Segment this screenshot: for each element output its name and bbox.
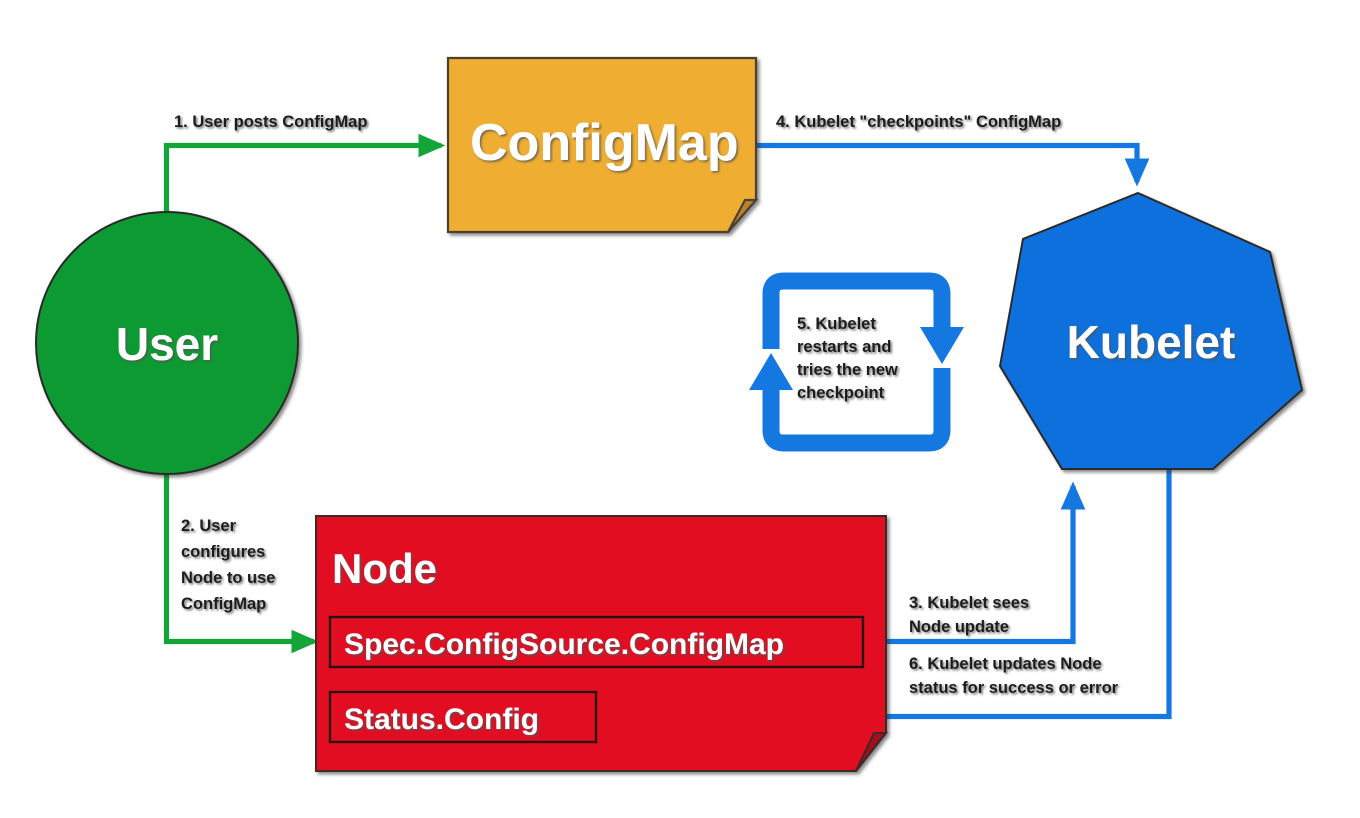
step-label-4-line-0: 4. Kubelet "checkpoints" ConfigMap — [776, 113, 1061, 131]
node-field-label-spec-config-source: Spec.ConfigSource.ConfigMap — [344, 628, 784, 661]
step-label-6-line-1: status for success or error — [909, 679, 1119, 697]
step-label-2-line-3: ConfigMap — [181, 595, 266, 613]
diagram-canvas: Node Spec.ConfigSource.ConfigMap Status.… — [0, 0, 1360, 818]
step-label-5-line-2: tries the new — [797, 361, 898, 379]
node-label-user: User — [116, 318, 218, 370]
step-label-2: 2. User configures Node to use ConfigMap — [181, 517, 275, 613]
step-label-1: 1. User posts ConfigMap — [174, 113, 367, 131]
step-label-2-line-1: configures — [181, 543, 265, 561]
step-label-6-line-0: 6. Kubelet updates Node — [909, 655, 1102, 673]
node-label-configmap: ConfigMap — [470, 114, 739, 172]
step-label-5: 5. Kubelet restarts and tries the new ch… — [797, 315, 898, 402]
arrow-step-4 — [757, 146, 1137, 183]
node-label-kubelet: Kubelet — [1067, 316, 1236, 368]
step-label-1-line-0: 1. User posts ConfigMap — [174, 113, 367, 131]
kubelet-config-flow-diagram: Node Spec.ConfigSource.ConfigMap Status.… — [0, 0, 1360, 818]
step-label-6: 6. Kubelet updates Node status for succe… — [909, 655, 1119, 697]
step-label-4: 4. Kubelet "checkpoints" ConfigMap — [776, 113, 1061, 131]
step-label-2-line-2: Node to use — [181, 569, 275, 587]
step-label-3-line-1: Node update — [909, 618, 1009, 636]
step-label-2-line-0: 2. User — [181, 517, 237, 535]
step-label-5-line-3: checkpoint — [797, 384, 885, 402]
step-label-3-line-0: 3. Kubelet sees — [909, 594, 1029, 612]
step-label-3: 3. Kubelet sees Node update — [909, 594, 1029, 636]
node-label-node: Node — [332, 545, 437, 592]
node-field-label-status-config: Status.Config — [344, 703, 539, 736]
arrow-step-1 — [167, 146, 442, 215]
step-label-5-line-0: 5. Kubelet — [797, 315, 876, 333]
step-label-5-line-1: restarts and — [797, 338, 891, 356]
